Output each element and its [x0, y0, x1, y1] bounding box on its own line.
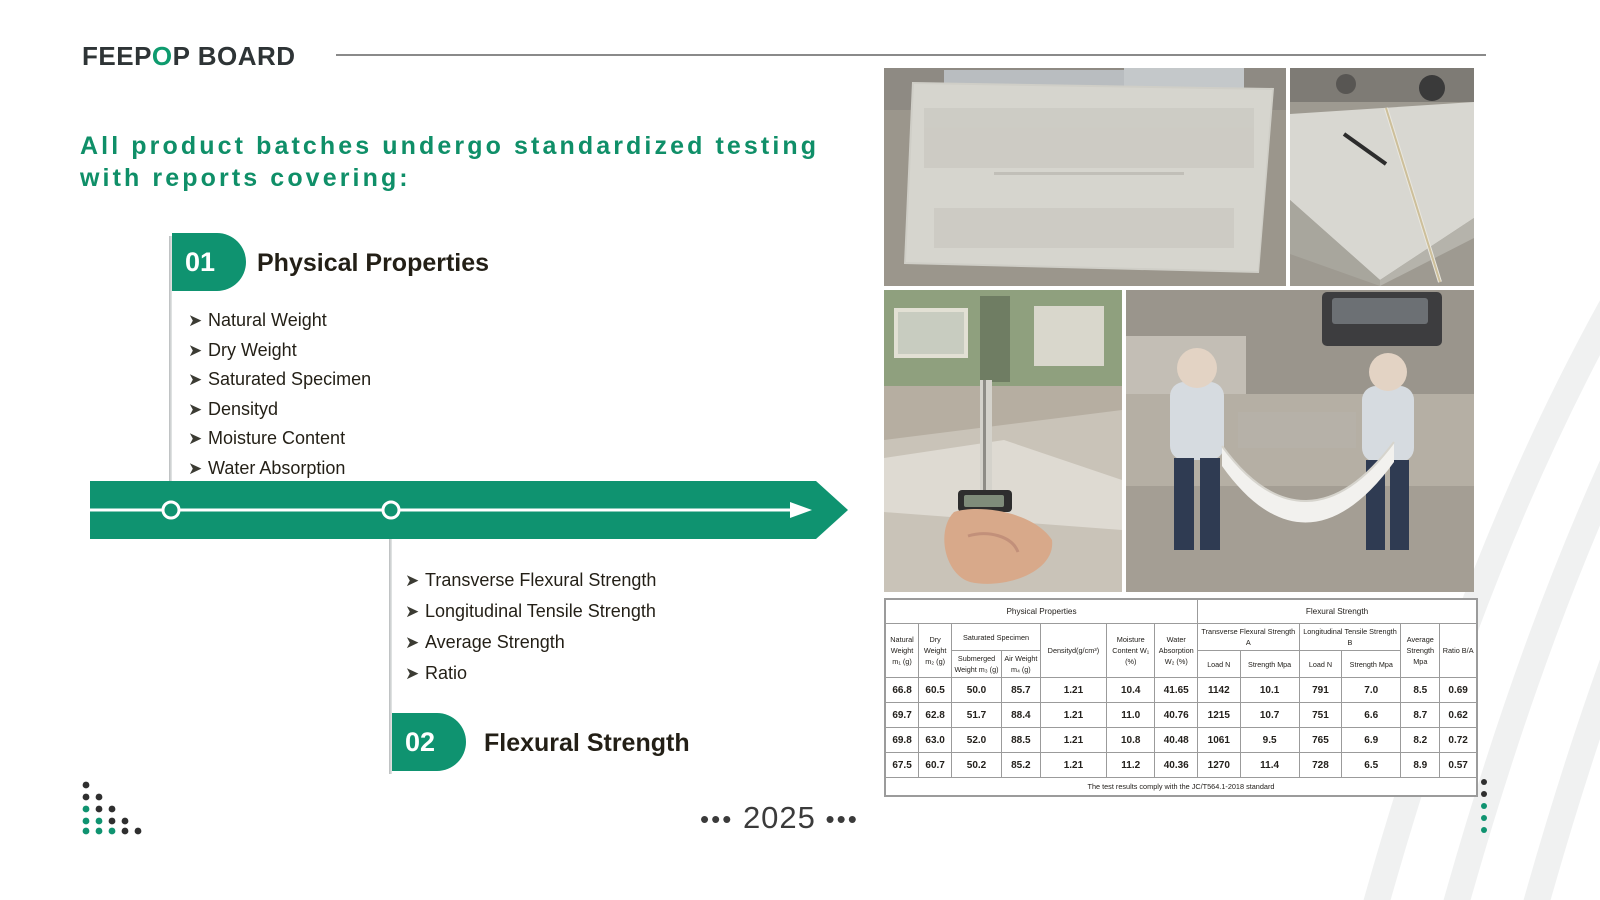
table-header-ratio: Ratio B/A [1440, 624, 1477, 678]
bullet-arrow-icon: ➤ [188, 307, 208, 336]
table-body: 66.8 60.5 50.0 85.7 1.21 10.4 41.65 1142… [886, 678, 1477, 796]
table-cell: 8.5 [1401, 678, 1440, 703]
table-mid-header-row: Natural Weight m₁ (g) Dry Weight m₂ (g) … [886, 624, 1477, 651]
table-cell: 50.2 [952, 753, 1002, 778]
table-cell: 67.5 [886, 753, 919, 778]
decorative-dot-pattern-left [80, 780, 150, 840]
bullet-arrow-icon: ➤ [188, 337, 208, 366]
table-header-transverse-flexural-strength-a: Transverse Flexural Strength A [1198, 624, 1300, 651]
table-header-water-absorption: Water Absorption W₂ (%) [1155, 624, 1198, 678]
decorative-dot-strip-right [1478, 778, 1490, 843]
list-item-label: Natural Weight [208, 306, 327, 335]
table-cell: 10.1 [1240, 678, 1299, 703]
table-cell: 40.36 [1155, 753, 1198, 778]
section-number-label-02: 02 [405, 727, 435, 758]
list-item: ➤Transverse Flexural Strength [405, 565, 656, 596]
test-results-table-container: Physical Properties Flexural Strength Na… [884, 598, 1478, 797]
test-results-table: Physical Properties Flexural Strength Na… [885, 599, 1477, 796]
footer-year: ••• 2025 ••• [700, 800, 859, 836]
table-cell: 728 [1299, 753, 1342, 778]
table-cell: 11.4 [1240, 753, 1299, 778]
table-cell: 0.62 [1440, 703, 1477, 728]
list-item-label: Densityd [208, 395, 278, 424]
list-item-label: Ratio [425, 658, 467, 689]
table-cell: 8.9 [1401, 753, 1440, 778]
table-header-average-strength: Average Strength Mpa [1401, 624, 1440, 678]
table-cell: 1.21 [1040, 753, 1106, 778]
list-item-label: Moisture Content [208, 424, 345, 453]
section-title-02: Flexural Strength [484, 729, 690, 758]
table-cell: 10.4 [1107, 678, 1155, 703]
header-divider-rule [336, 54, 1486, 56]
table-cell: 751 [1299, 703, 1342, 728]
table-cell: 88.4 [1001, 703, 1040, 728]
list-item: ➤Moisture Content [188, 424, 371, 454]
table-cell: 0.57 [1440, 753, 1477, 778]
table-group-header-physical: Physical Properties [886, 600, 1198, 624]
photo-fiber-cement-board-flat-lay [884, 68, 1286, 286]
table-cell: 1.21 [1040, 728, 1106, 753]
table-header-dry-weight: Dry Weight m₂ (g) [919, 624, 952, 678]
table-group-header-row: Physical Properties Flexural Strength [886, 600, 1477, 624]
table-cell: 11.2 [1107, 753, 1155, 778]
table-cell: 85.2 [1001, 753, 1040, 778]
list-item-label: Saturated Specimen [208, 365, 371, 394]
bullet-arrow-icon: ➤ [405, 596, 425, 627]
list-item: ➤Densityd [188, 395, 371, 425]
table-cell: 9.5 [1240, 728, 1299, 753]
table-cell: 69.8 [886, 728, 919, 753]
section-title-01: Physical Properties [257, 249, 489, 278]
table-cell: 66.8 [886, 678, 919, 703]
table-cell: 60.7 [919, 753, 952, 778]
table-header-density: Densityd(g/cm³) [1040, 624, 1106, 678]
table-cell: 41.65 [1155, 678, 1198, 703]
table-cell: 85.7 [1001, 678, 1040, 703]
table-cell: 0.72 [1440, 728, 1477, 753]
footer-dots-left: ••• [700, 804, 733, 834]
feature-list-flexural-strength: ➤Transverse Flexural Strength ➤Longitudi… [405, 565, 656, 689]
list-item-label: Transverse Flexural Strength [425, 565, 656, 596]
feature-list-physical-properties: ➤Natural Weight ➤Dry Weight ➤Saturated S… [188, 306, 371, 483]
photo-caliper-thickness-measurement [884, 290, 1122, 592]
footer-year-label: 2025 [743, 800, 816, 835]
table-header-load-n-b: Load N [1299, 651, 1342, 678]
table-header-moisture-content: Moisture Content W₁ (%) [1107, 624, 1155, 678]
section-number-badge-02: 02 [392, 713, 466, 771]
footer-dots-right: ••• [826, 804, 859, 834]
table-footnote: The test results comply with the JC/T564… [886, 778, 1477, 796]
table-cell: 40.48 [1155, 728, 1198, 753]
table-header-air-weight: Air Weight m₄ (g) [1001, 651, 1040, 678]
list-item: ➤Longitudinal Tensile Strength [405, 596, 656, 627]
table-row: 69.8 63.0 52.0 88.5 1.21 10.8 40.48 1061… [886, 728, 1477, 753]
brand-logo-part2: P BOARD [173, 41, 296, 71]
bullet-arrow-icon: ➤ [405, 658, 425, 689]
table-header-saturated-specimen: Saturated Specimen [952, 624, 1041, 651]
list-item: ➤Saturated Specimen [188, 365, 371, 395]
table-cell: 10.7 [1240, 703, 1299, 728]
bullet-arrow-icon: ➤ [405, 565, 425, 596]
table-footnote-row: The test results comply with the JC/T564… [886, 778, 1477, 796]
table-cell: 8.7 [1401, 703, 1440, 728]
bullet-arrow-icon: ➤ [188, 396, 208, 425]
table-cell: 1142 [1198, 678, 1241, 703]
photo-collage [884, 68, 1474, 592]
table-cell: 51.7 [952, 703, 1002, 728]
slide-root: FEEPOP BOARD All product batches undergo… [0, 0, 1600, 900]
table-cell: 69.7 [886, 703, 919, 728]
table-cell: 0.69 [1440, 678, 1477, 703]
list-item-label: Longitudinal Tensile Strength [425, 596, 656, 627]
section-number-badge-01: 01 [172, 233, 246, 291]
table-cell: 52.0 [952, 728, 1002, 753]
bullet-arrow-icon: ➤ [188, 455, 208, 484]
table-header-load-n-a: Load N [1198, 651, 1241, 678]
table-cell: 6.6 [1342, 703, 1401, 728]
table-row: 69.7 62.8 51.7 88.4 1.21 11.0 40.76 1215… [886, 703, 1477, 728]
list-item-label: Dry Weight [208, 336, 297, 365]
table-cell: 11.0 [1107, 703, 1155, 728]
table-cell: 10.8 [1107, 728, 1155, 753]
brand-logo-part1: FEEP [82, 41, 152, 71]
bullet-arrow-icon: ➤ [188, 366, 208, 395]
table-cell: 6.5 [1342, 753, 1401, 778]
section-number-label-01: 01 [185, 247, 215, 278]
brand-logo: FEEPOP BOARD [82, 41, 296, 72]
table-row: 67.5 60.7 50.2 85.2 1.21 11.2 40.36 1270… [886, 753, 1477, 778]
table-header-strength-mpa-b: Strength Mpa [1342, 651, 1401, 678]
table-cell: 1270 [1198, 753, 1241, 778]
table-cell: 1.21 [1040, 678, 1106, 703]
page-title: All product batches undergo standardized… [80, 130, 880, 194]
table-header-longitudinal-tensile-strength-b: Longitudinal Tensile Strength B [1299, 624, 1401, 651]
table-cell: 7.0 [1342, 678, 1401, 703]
list-item-label: Water Absorption [208, 454, 345, 483]
bullet-arrow-icon: ➤ [188, 425, 208, 454]
table-cell: 50.0 [952, 678, 1002, 703]
bullet-arrow-icon: ➤ [405, 627, 425, 658]
table-cell: 1061 [1198, 728, 1241, 753]
table-header-submerged-weight: Submerged Weight m₃ (g) [952, 651, 1002, 678]
list-item-label: Average Strength [425, 627, 565, 658]
table-cell: 8.2 [1401, 728, 1440, 753]
table-header-strength-mpa-a: Strength Mpa [1240, 651, 1299, 678]
table-header-natural-weight: Natural Weight m₁ (g) [886, 624, 919, 678]
table-cell: 62.8 [919, 703, 952, 728]
list-item: ➤Natural Weight [188, 306, 371, 336]
list-item: ➤Water Absorption [188, 454, 371, 484]
table-cell: 791 [1299, 678, 1342, 703]
list-item: ➤Ratio [405, 658, 656, 689]
table-row: 66.8 60.5 50.0 85.7 1.21 10.4 41.65 1142… [886, 678, 1477, 703]
table-cell: 63.0 [919, 728, 952, 753]
table-cell: 6.9 [1342, 728, 1401, 753]
table-cell: 88.5 [1001, 728, 1040, 753]
photo-flexibility-bending-demonstration [1126, 290, 1474, 592]
timeline-arrow [90, 477, 850, 543]
photo-board-edge-thickness-measurement [1290, 68, 1474, 286]
table-cell: 765 [1299, 728, 1342, 753]
list-item: ➤Dry Weight [188, 336, 371, 366]
table-cell: 1215 [1198, 703, 1241, 728]
list-item: ➤Average Strength [405, 627, 656, 658]
table-cell: 40.76 [1155, 703, 1198, 728]
table-group-header-flexural: Flexural Strength [1198, 600, 1477, 624]
brand-logo-accent: O [152, 41, 173, 71]
table-cell: 60.5 [919, 678, 952, 703]
table-cell: 1.21 [1040, 703, 1106, 728]
